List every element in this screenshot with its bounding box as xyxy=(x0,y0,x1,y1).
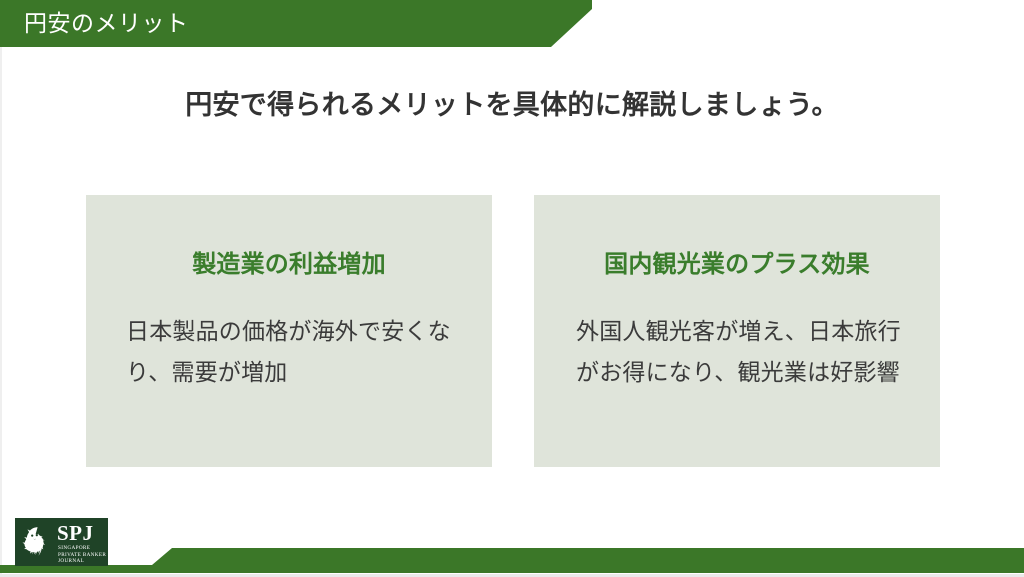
card-title: 国内観光業のプラス効果 xyxy=(556,195,918,281)
page-title: 円安のメリット xyxy=(24,7,189,39)
slide-canvas: 円安のメリット 円安で得られるメリットを具体的に解説しましょう。 製造業の利益増… xyxy=(0,0,1024,577)
card-body: 日本製品の価格が海外で安くなり、需要が増加 xyxy=(108,281,470,393)
benefit-card-tourism: 国内観光業のプラス効果 外国人観光客が増え、日本旅行がお得になり、観光業は好影響 xyxy=(534,195,940,467)
logo-tagline: Singapore Private Banker Journal xyxy=(58,545,108,565)
spj-logo: SPJ Singapore Private Banker Journal xyxy=(15,518,108,566)
logo-wordmark: SPJ xyxy=(57,523,94,544)
benefit-card-manufacturing: 製造業の利益増加 日本製品の価格が海外で安くなり、需要が増加 xyxy=(86,195,492,467)
card-body: 外国人観光客が増え、日本旅行がお得になり、観光業は好影響 xyxy=(556,281,918,393)
lion-head-icon xyxy=(21,525,55,559)
card-title: 製造業の利益増加 xyxy=(108,195,470,281)
footer-band xyxy=(0,548,1024,573)
subtitle-text: 円安で得られるメリットを具体的に解説しましょう。 xyxy=(0,86,1024,124)
